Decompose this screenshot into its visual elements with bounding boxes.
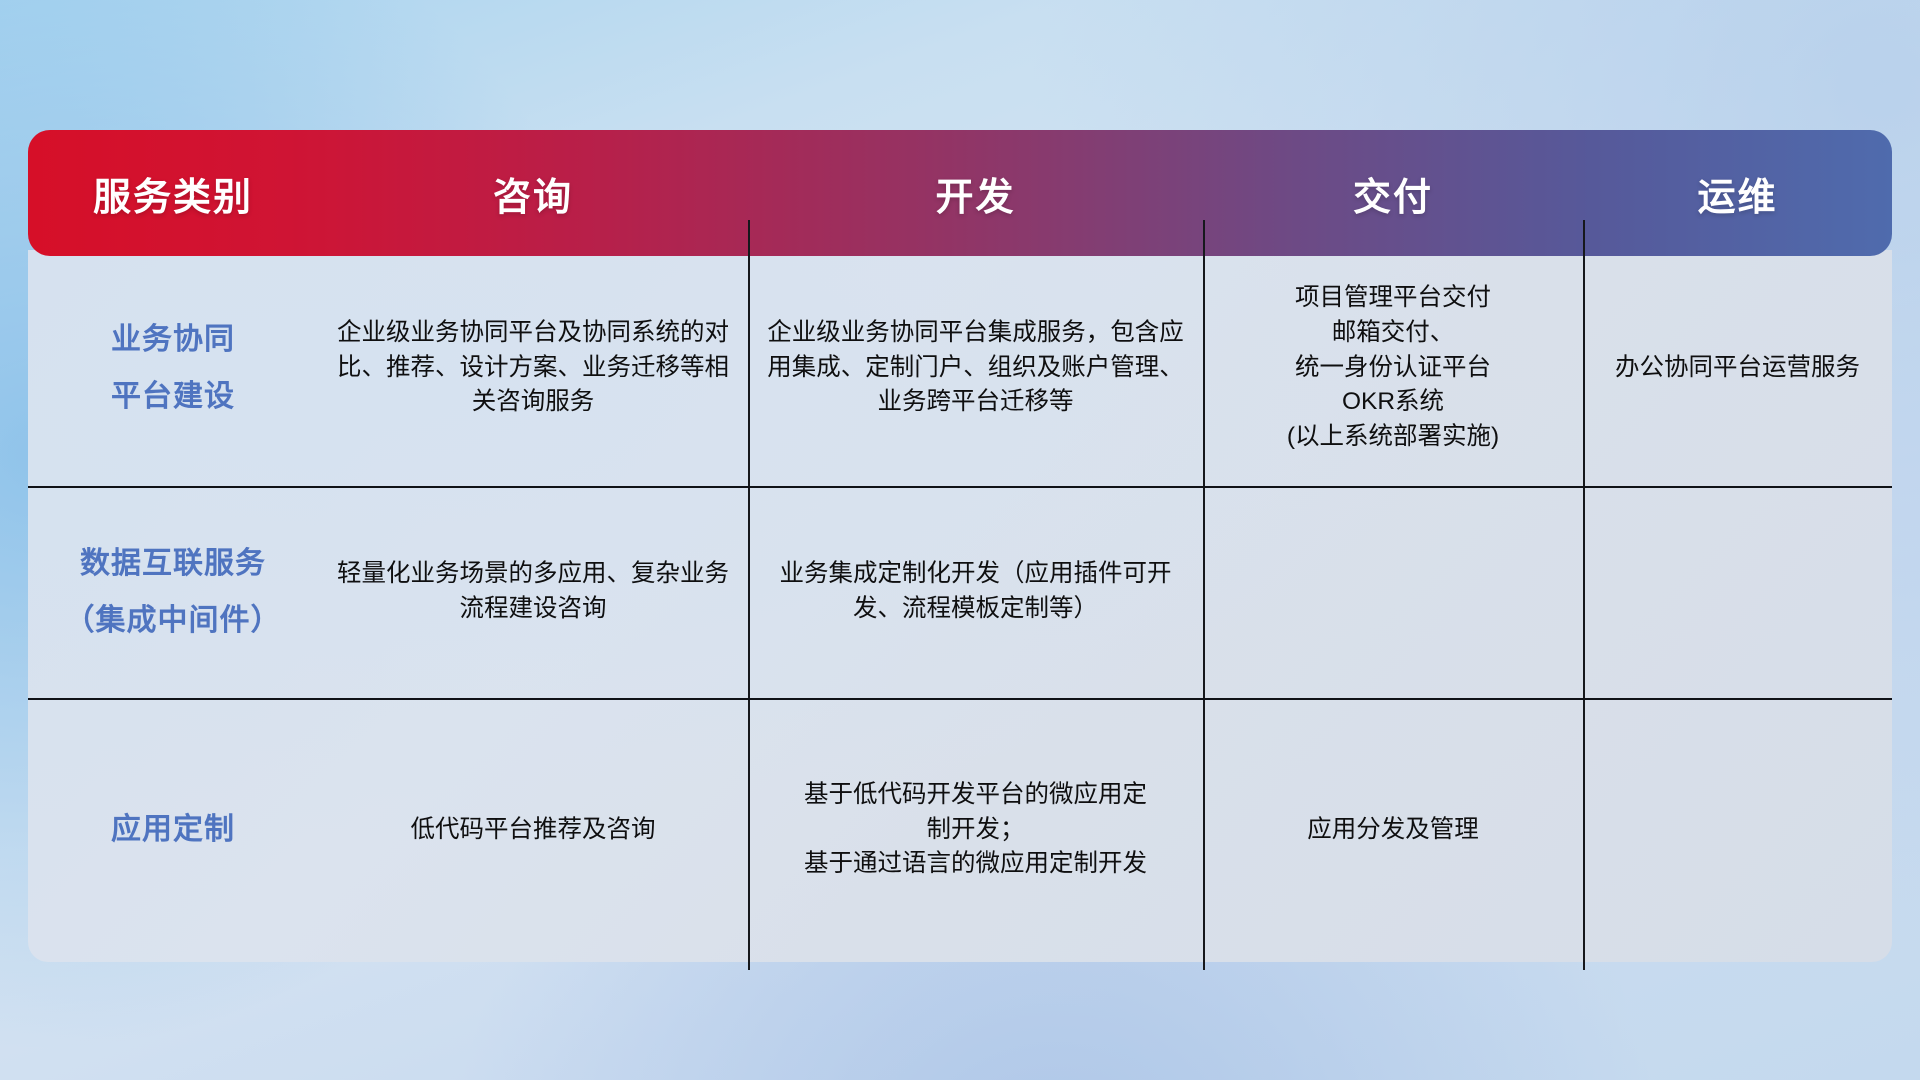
table-row: 应用定制: [28, 698, 318, 962]
table-row: 数据互联服务 （集成中间件）: [28, 486, 318, 698]
cell-row1-delivery: [1203, 486, 1583, 698]
cell-row2-consulting: 低代码平台推荐及咨询: [318, 698, 748, 962]
cell-row0-development: 企业级业务协同平台集成服务，包含应用集成、定制门户、组织及账户管理、业务跨平台迁…: [748, 250, 1203, 486]
column-divider-2: [1203, 220, 1205, 970]
cell-row2-operations: [1583, 698, 1892, 962]
row-divider-1: [28, 486, 1892, 488]
column-header-delivery: 交付: [1203, 166, 1583, 221]
row-1-category-line-0: 数据互联服务: [65, 535, 282, 592]
column-header-operations: 运维: [1583, 166, 1892, 221]
row-divider-2: [28, 698, 1892, 700]
row-2-development-line-0: 基于低代码开发平台的微应用定: [804, 778, 1147, 813]
table-body-panel: 业务协同 平台建设 企业级业务协同平台及协同系统的对比、推荐、设计方案、业务迁移…: [28, 250, 1892, 962]
cell-row2-delivery: 应用分发及管理: [1203, 698, 1583, 962]
row-0-delivery-line-0: 项目管理平台交付: [1287, 281, 1499, 316]
cell-row0-operations: 办公协同平台运营服务: [1583, 250, 1892, 486]
row-2-development-line-1: 制开发；: [804, 813, 1147, 848]
row-0-category-line-0: 业务协同: [111, 311, 235, 368]
row-0-delivery-line-1: 邮箱交付、: [1287, 316, 1499, 351]
cell-row0-delivery: 项目管理平台交付 邮箱交付、 统一身份认证平台 OKR系统 (以上系统部署实施): [1203, 250, 1583, 486]
row-0-category-line-1: 平台建设: [111, 368, 235, 425]
row-2-category-line-0: 应用定制: [111, 804, 235, 857]
column-header-consulting: 咨询: [318, 166, 748, 221]
table-grid: 业务协同 平台建设 企业级业务协同平台及协同系统的对比、推荐、设计方案、业务迁移…: [28, 250, 1892, 962]
column-divider-1: [748, 220, 750, 970]
table-header-row: 服务类别 咨询 开发 交付 运维: [28, 130, 1892, 256]
row-0-delivery-line-4: (以上系统部署实施): [1287, 420, 1499, 455]
row-0-delivery-line-2: 统一身份认证平台: [1287, 351, 1499, 386]
cell-row1-development: 业务集成定制化开发（应用插件可开发、流程模板定制等）: [748, 486, 1203, 698]
row-0-delivery-line-3: OKR系统: [1287, 385, 1499, 420]
column-header-service-category: 服务类别: [28, 166, 318, 221]
table-row: 业务协同 平台建设: [28, 250, 318, 486]
row-1-category-line-1: （集成中间件）: [65, 592, 282, 649]
column-header-development: 开发: [748, 166, 1203, 221]
service-matrix-table: 服务类别 咨询 开发 交付 运维 业务协同 平台建设 企业级业务协同平台及协同系…: [28, 130, 1892, 965]
cell-row2-development: 基于低代码开发平台的微应用定 制开发； 基于通过语言的微应用定制开发: [748, 698, 1203, 962]
cell-row1-consulting: 轻量化业务场景的多应用、复杂业务流程建设咨询: [318, 486, 748, 698]
cell-row1-operations: [1583, 486, 1892, 698]
cell-row0-consulting: 企业级业务协同平台及协同系统的对比、推荐、设计方案、业务迁移等相关咨询服务: [318, 250, 748, 486]
row-2-development-line-2: 基于通过语言的微应用定制开发: [804, 847, 1147, 882]
column-divider-3: [1583, 220, 1585, 970]
